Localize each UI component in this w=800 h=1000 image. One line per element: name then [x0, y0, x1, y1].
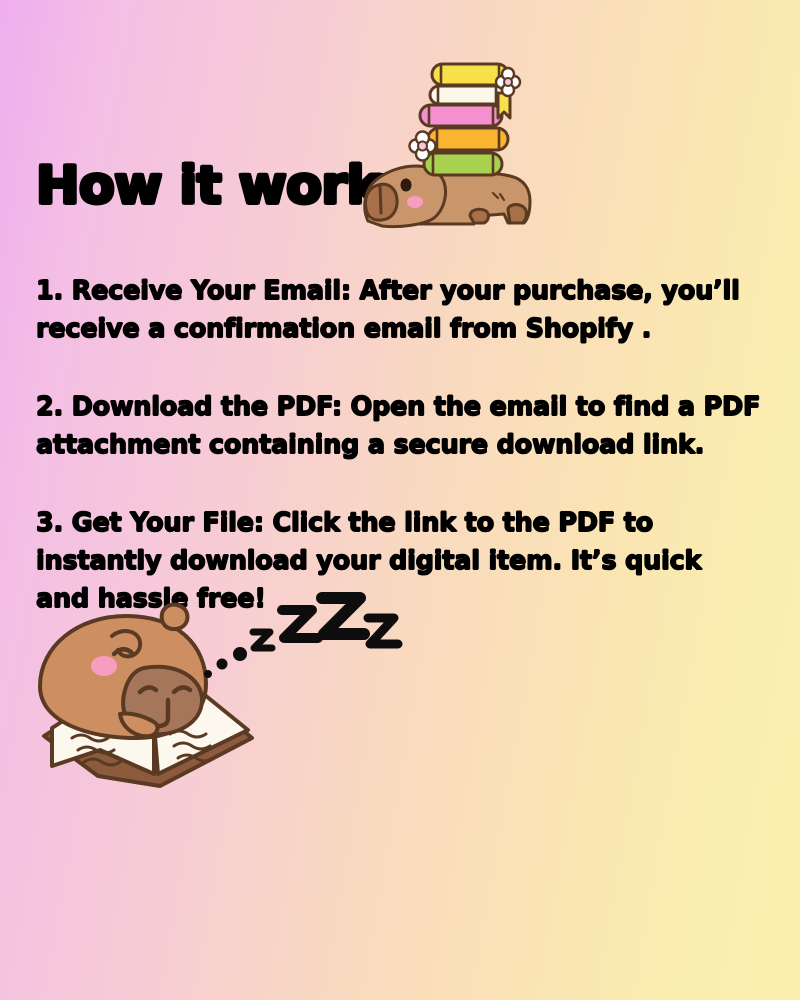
page-title: How it works — [36, 160, 411, 212]
capybara-books-svg — [358, 58, 544, 244]
sleep-zzz-illustration — [200, 592, 420, 687]
zzz-svg — [200, 592, 420, 687]
capybara-snout-line — [380, 186, 381, 213]
poster-canvas: How it works — [0, 0, 800, 1000]
capybara-foot-front — [470, 209, 489, 223]
book-orange — [428, 128, 508, 150]
capybara-foot-back — [508, 205, 527, 223]
sleeping-capybara-ear — [162, 605, 188, 629]
book-pink — [420, 105, 502, 126]
sleep-letters — [253, 598, 398, 648]
capybara-cheek — [407, 196, 423, 208]
sleeping-capybara-cheek — [91, 656, 117, 676]
book-green — [424, 153, 502, 175]
sleep-dots — [204, 647, 247, 678]
capybara-with-book-stack-illustration — [358, 58, 544, 244]
book-cream — [430, 86, 504, 104]
steps-list: 1. Receive Your Email: After your purcha… — [36, 272, 762, 618]
step-item-2: 2. Download the PDF: Open the email to f… — [36, 388, 762, 464]
step-item-1: 1. Receive Your Email: After your purcha… — [36, 272, 762, 348]
capybara-eye — [401, 179, 412, 192]
